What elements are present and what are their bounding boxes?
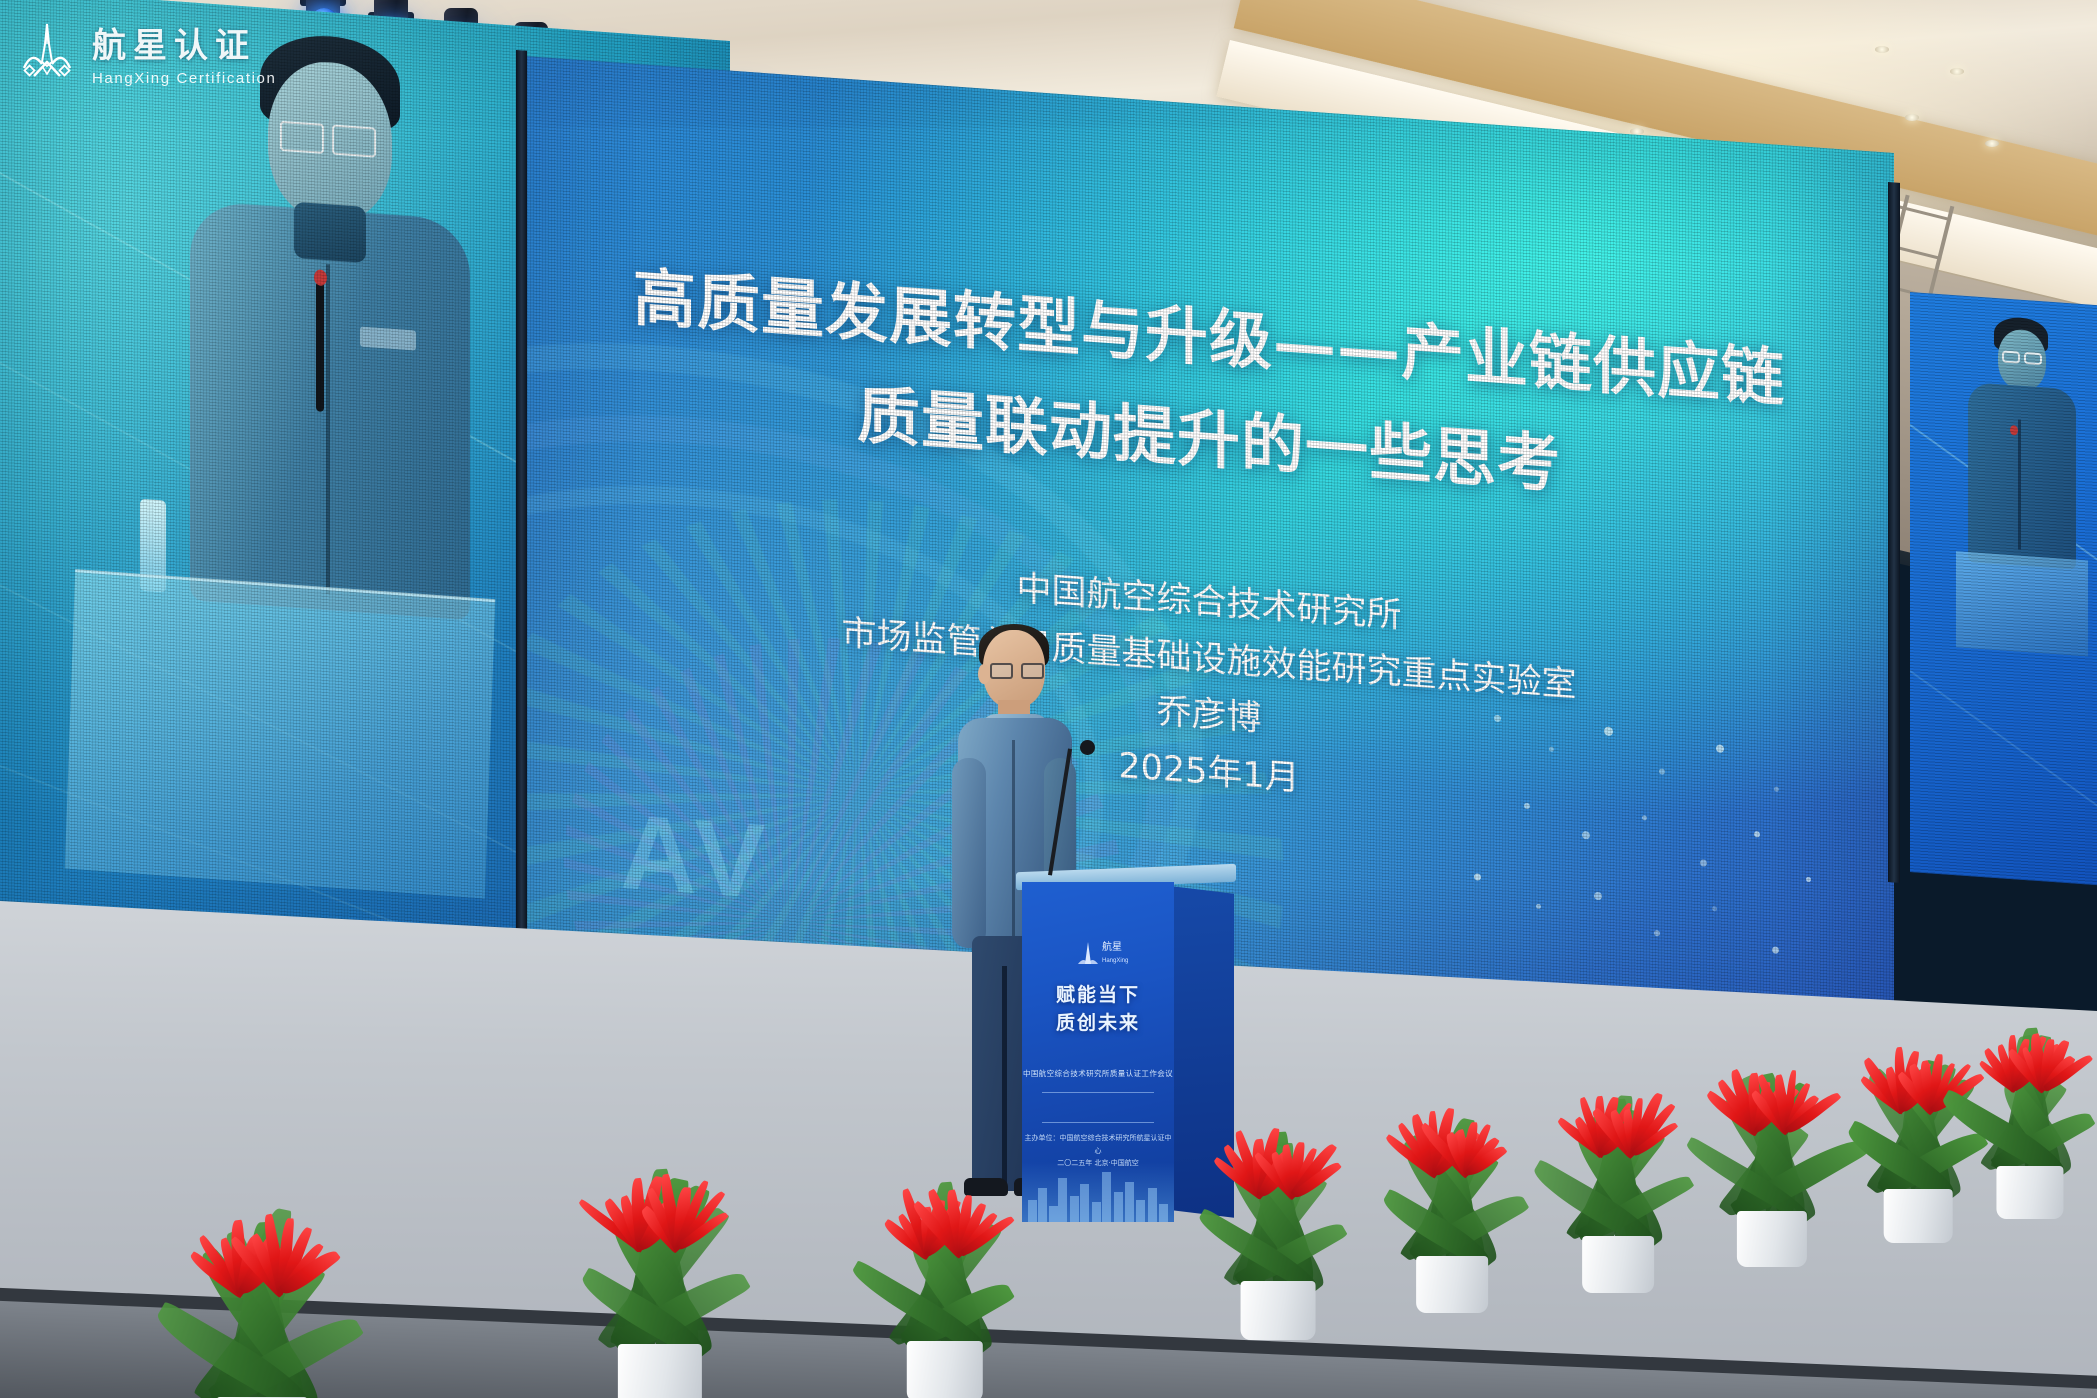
flower-pot — [1737, 1211, 1807, 1267]
podium-slogan: 赋能当下 质创未来 — [1022, 982, 1174, 1037]
stage-flower-pot — [536, 1098, 784, 1398]
stage-flower-pot — [1931, 970, 2097, 1219]
flower-pot — [1241, 1281, 1316, 1341]
slide-credits: 中国航空综合技术研究所 市场监管总局质量基础设施效能研究重点实验室 乔彦博 20… — [524, 526, 1894, 850]
presenter-jacket-zipper — [1012, 740, 1015, 940]
stage-flower-pot — [832, 1118, 1057, 1398]
microphone-icon — [1080, 740, 1095, 755]
stage-flower-pot — [126, 1128, 397, 1398]
podium-divider-2 — [1042, 1122, 1154, 1123]
watermark: 航星认证 HangXing Certification — [16, 18, 276, 87]
flower-pot — [907, 1341, 983, 1398]
watermark-name-cn: 航星认证 — [92, 18, 276, 67]
screen-seam-right — [1888, 182, 1900, 883]
flower-pot — [1996, 1166, 2063, 1219]
presenter-left-arm — [952, 758, 986, 948]
podium-subtitle: 中国航空综合技术研究所质量认证工作会议 — [1022, 1068, 1174, 1079]
podium-divider-1 — [1042, 1092, 1154, 1093]
flower-pot — [1582, 1236, 1654, 1293]
flower-pot — [618, 1344, 702, 1398]
flower-pot — [1416, 1256, 1488, 1313]
conference-stage-photo: AV 高质量发展转型与升级——产业链供应链 质量联动提升的一些思考 中国航空综合… — [0, 0, 2097, 1398]
hangxing-logo-icon: 航星 HangXing — [1072, 934, 1128, 970]
left-screen-podium — [65, 569, 495, 898]
presenter-ear — [978, 664, 990, 684]
podium-slogan-line1: 赋能当下 — [1022, 982, 1174, 1010]
screen-seam-left — [516, 50, 527, 951]
right-led-screen — [1910, 292, 2097, 889]
svg-text:HangXing: HangXing — [1102, 958, 1128, 964]
watermark-name-en: HangXing Certification — [92, 70, 276, 87]
rocket-tower-logo-icon — [16, 22, 78, 84]
svg-text:航星: 航星 — [1102, 940, 1122, 953]
podium-slogan-line2: 质创未来 — [1022, 1010, 1174, 1038]
glasses-icon — [990, 663, 1044, 680]
